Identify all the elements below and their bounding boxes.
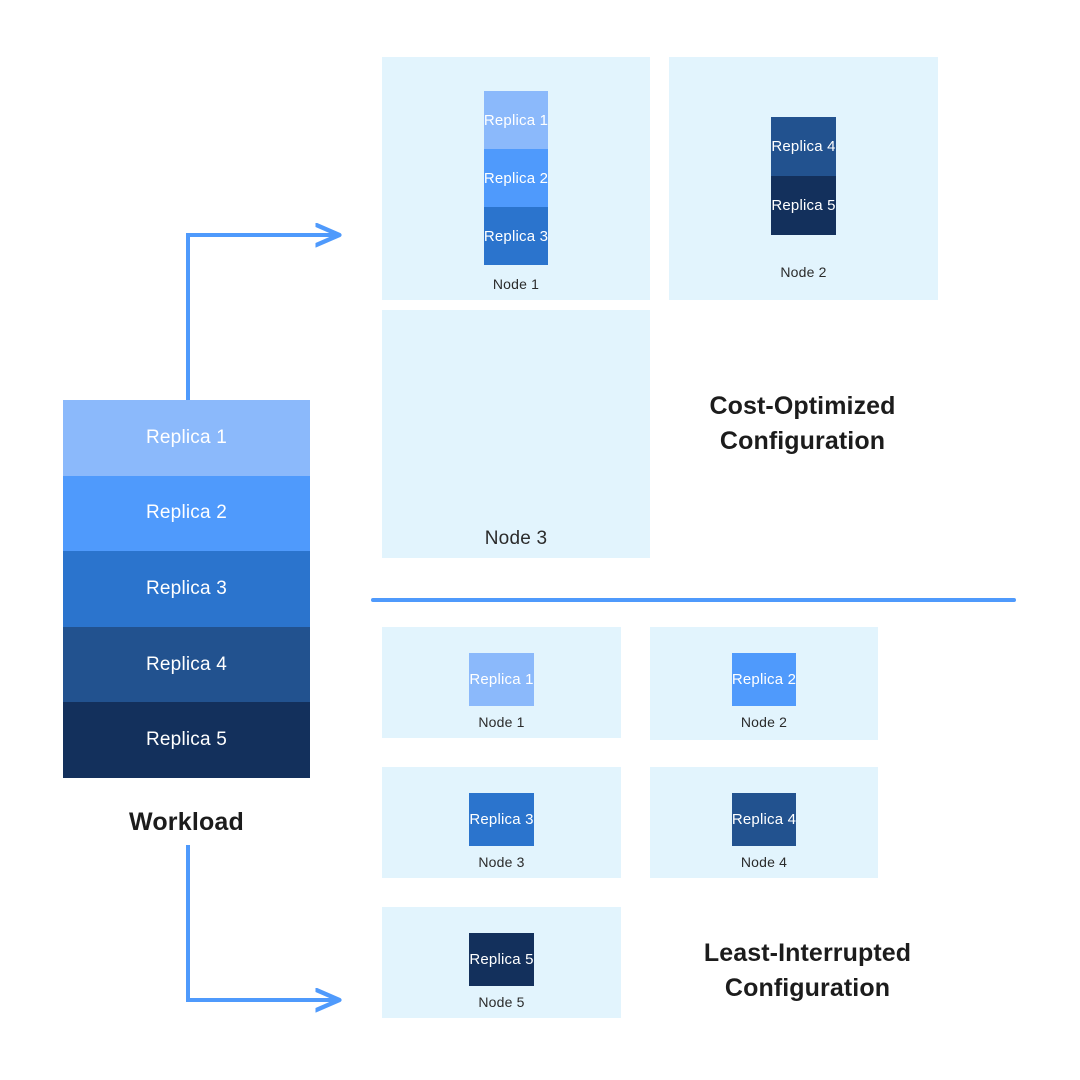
replica-block-1: Replica 1 xyxy=(469,653,533,706)
node-box-cost-optimized-1[interactable]: Replica 1 Replica 2 Replica 3 Node 1 xyxy=(382,57,650,300)
caption-line-1: Cost-Optimized xyxy=(709,392,895,420)
workload-replica-2: Replica 2 xyxy=(63,476,310,552)
replica-block-3: Replica 3 xyxy=(469,793,533,846)
section-divider xyxy=(371,598,1016,602)
replica-stack: Replica 1 Replica 2 Replica 3 xyxy=(424,91,609,265)
replica-stack: Replica 1 xyxy=(408,653,596,706)
replica-block-4: Replica 4 xyxy=(771,117,835,176)
arrow-to-cost-optimized xyxy=(188,235,337,400)
replica-stack: Replica 5 xyxy=(408,933,596,986)
cost-optimized-caption: Cost-Optimized Configuration xyxy=(660,389,945,458)
workload-label: Workload xyxy=(63,808,310,837)
node-box-least-interrupted-5[interactable]: Replica 5 Node 5 xyxy=(382,907,621,1018)
workload-replica-1: Replica 1 xyxy=(63,400,310,476)
replica-stack: Replica 2 xyxy=(671,653,857,706)
replica-block-5: Replica 5 xyxy=(469,933,533,986)
node-box-cost-optimized-2[interactable]: Replica 4 Replica 5 Node 2 xyxy=(669,57,938,300)
node-label: Node 3 xyxy=(478,854,524,870)
node-box-least-interrupted-3[interactable]: Replica 3 Node 3 xyxy=(382,767,621,878)
workload-replica-3: Replica 3 xyxy=(63,551,310,627)
diagram-canvas: Replica 1 Replica 2 Replica 3 Replica 4 … xyxy=(0,0,1080,1080)
replica-block-2: Replica 2 xyxy=(484,149,548,207)
workload-replica-4: Replica 4 xyxy=(63,627,310,703)
node-box-cost-optimized-3-empty[interactable]: Node 3 xyxy=(382,310,650,558)
replica-block-5: Replica 5 xyxy=(771,176,835,235)
caption-line-1: Least-Interrupted xyxy=(704,939,911,967)
node-box-least-interrupted-4[interactable]: Replica 4 Node 4 xyxy=(650,767,878,878)
node-box-least-interrupted-1[interactable]: Replica 1 Node 1 xyxy=(382,627,621,738)
node-label: Node 2 xyxy=(780,264,826,280)
replica-block-1: Replica 1 xyxy=(484,91,548,149)
node-label: Node 2 xyxy=(741,714,787,730)
arrow-to-least-interrupted xyxy=(188,845,337,1000)
replica-stack: Replica 4 Replica 5 xyxy=(711,117,897,235)
caption-line-2: Configuration xyxy=(720,427,885,455)
node-label: Node 1 xyxy=(493,276,539,292)
node-label: Node 1 xyxy=(478,714,524,730)
workload-replica-5: Replica 5 xyxy=(63,702,310,778)
replica-block-4: Replica 4 xyxy=(732,793,796,846)
replica-stack: Replica 4 xyxy=(671,793,857,846)
caption-line-2: Configuration xyxy=(725,974,890,1002)
node-label: Node 4 xyxy=(741,854,787,870)
node-label: Node 3 xyxy=(485,528,547,550)
replica-block-2: Replica 2 xyxy=(732,653,796,706)
least-interrupted-caption: Least-Interrupted Configuration xyxy=(665,936,950,1005)
replica-block-3: Replica 3 xyxy=(484,207,548,265)
workload-stack: Replica 1 Replica 2 Replica 3 Replica 4 … xyxy=(63,400,310,778)
replica-stack: Replica 3 xyxy=(408,793,596,846)
node-label: Node 5 xyxy=(478,994,524,1010)
node-box-least-interrupted-2[interactable]: Replica 2 Node 2 xyxy=(650,627,878,740)
